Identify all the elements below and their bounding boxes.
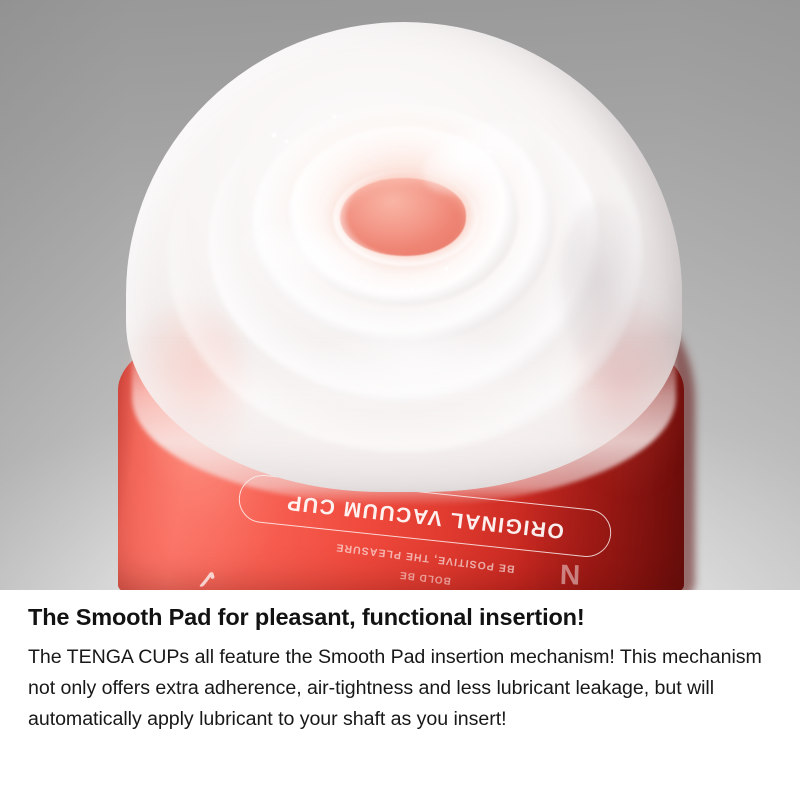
- feature-body-text: The TENGA CUPs all feature the Smooth Pa…: [28, 642, 776, 736]
- feature-headline: The Smooth Pad for pleasant, functional …: [28, 605, 778, 631]
- lubricant-droplet: [487, 150, 490, 153]
- product-photo: ORIGINAL VACUUM CUP BE POSITIVE, THE PLE…: [0, 0, 800, 590]
- lubricant-droplet: [285, 140, 288, 143]
- lubricant-droplet: [272, 133, 276, 137]
- lubricant-droplet: [445, 267, 448, 270]
- description-panel: The Smooth Pad for pleasant, functional …: [0, 590, 800, 800]
- product-feature-screenshot: ORIGINAL VACUUM CUP BE POSITIVE, THE PLE…: [0, 0, 800, 800]
- pad-sheen-lower: [300, 330, 530, 408]
- lubricant-droplet: [410, 288, 413, 291]
- lubricant-droplet: [333, 115, 336, 118]
